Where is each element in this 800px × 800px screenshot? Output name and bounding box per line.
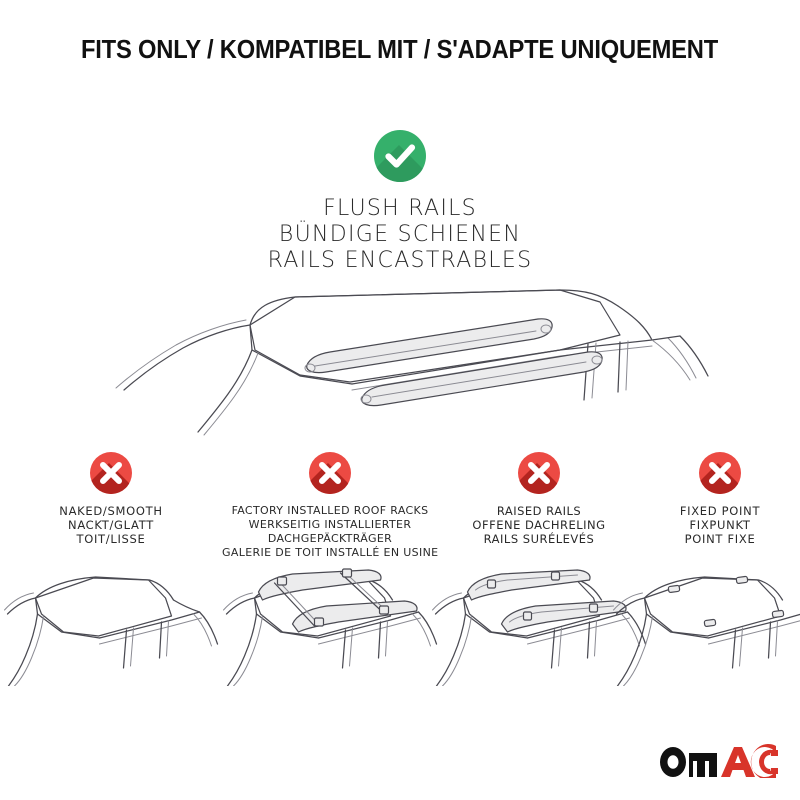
logo-letter-a <box>721 747 755 777</box>
omac-logo <box>658 744 778 778</box>
incompatible-labels: FIXED POINT FIXPUNKT POINT FIXE <box>640 504 800 546</box>
check-circle-icon <box>374 130 426 182</box>
incompatible-label-de: FIXPUNKT <box>640 518 800 532</box>
page-header: FITS ONLY / KOMPATIBEL MIT / S'ADAPTE UN… <box>0 0 800 100</box>
incompatible-item-factory-racks: FACTORY INSTALLED ROOF RACKS WERKSEITIG … <box>222 452 438 560</box>
compatible-label-fr: RAILS ENCASTRABLES <box>0 248 800 274</box>
incompatible-label-fr: TOIT/LISSE <box>0 532 222 546</box>
cross-circle-icon <box>518 452 560 494</box>
car-roof-factory-racks-illustration <box>223 556 438 686</box>
incompatible-label-de: OFFENE DACHRELING <box>438 518 640 532</box>
compatible-label-en: FLUSH RAILS <box>0 196 800 222</box>
cross-circle-icon <box>699 452 741 494</box>
incompatible-label-de-2: DACHGEPÄCKTRÄGER <box>222 532 438 546</box>
incompatible-label-en: FACTORY INSTALLED ROOF RACKS <box>222 504 438 518</box>
incompatible-labels: RAISED RAILS OFFENE DACHRELING RAILS SUR… <box>438 504 640 546</box>
incompatible-item-fixed-point: FIXED POINT FIXPUNKT POINT FIXE <box>640 452 800 560</box>
cross-mark-glyph <box>518 452 560 494</box>
incompatible-labels: NAKED/SMOOTH NACKT/GLATT TOIT/LISSE <box>0 504 222 546</box>
incompatible-label-fr: POINT FIXE <box>640 532 800 546</box>
cross-circle-icon <box>309 452 351 494</box>
incompatible-grid: NAKED/SMOOTH NACKT/GLATT TOIT/LISSE <box>0 452 800 560</box>
incompatible-labels: FACTORY INSTALLED ROOF RACKS WERKSEITIG … <box>222 504 438 560</box>
incompatible-label-de: NACKT/GLATT <box>0 518 222 532</box>
incompatible-label-en: RAISED RAILS <box>438 504 640 518</box>
compatible-label-de: BÜNDIGE SCHIENEN <box>0 222 800 248</box>
incompatible-label-fr: RAILS SURÉLEVÉS <box>438 532 640 546</box>
compatible-section: FLUSH RAILS BÜNDIGE SCHIENEN RAILS ENCAS… <box>0 130 800 445</box>
compatible-labels: FLUSH RAILS BÜNDIGE SCHIENEN RAILS ENCAS… <box>0 196 800 274</box>
car-roof-flush-rails-illustration <box>0 280 800 440</box>
page-title: FITS ONLY / KOMPATIBEL MIT / S'ADAPTE UN… <box>81 36 718 65</box>
check-mark-glyph <box>374 130 426 182</box>
incompatible-item-raised-rails: RAISED RAILS OFFENE DACHRELING RAILS SUR… <box>438 452 640 560</box>
incompatible-item-naked-smooth: NAKED/SMOOTH NACKT/GLATT TOIT/LISSE <box>0 452 222 560</box>
logo-letter-o <box>660 747 686 777</box>
incompatible-label-de-1: WERKSEITIG INSTALLIERTER <box>222 518 438 532</box>
incompatible-label-en: NAKED/SMOOTH <box>0 504 222 518</box>
car-roof-fixed-point-illustration <box>613 556 800 686</box>
cross-mark-glyph <box>699 452 741 494</box>
cross-circle-icon <box>90 452 132 494</box>
car-roof-naked-illustration <box>4 556 219 686</box>
incompatible-label-en: FIXED POINT <box>640 504 800 518</box>
logo-letter-m <box>689 753 717 777</box>
cross-mark-glyph <box>309 452 351 494</box>
cross-mark-glyph <box>90 452 132 494</box>
logo-letter-c <box>751 744 778 778</box>
